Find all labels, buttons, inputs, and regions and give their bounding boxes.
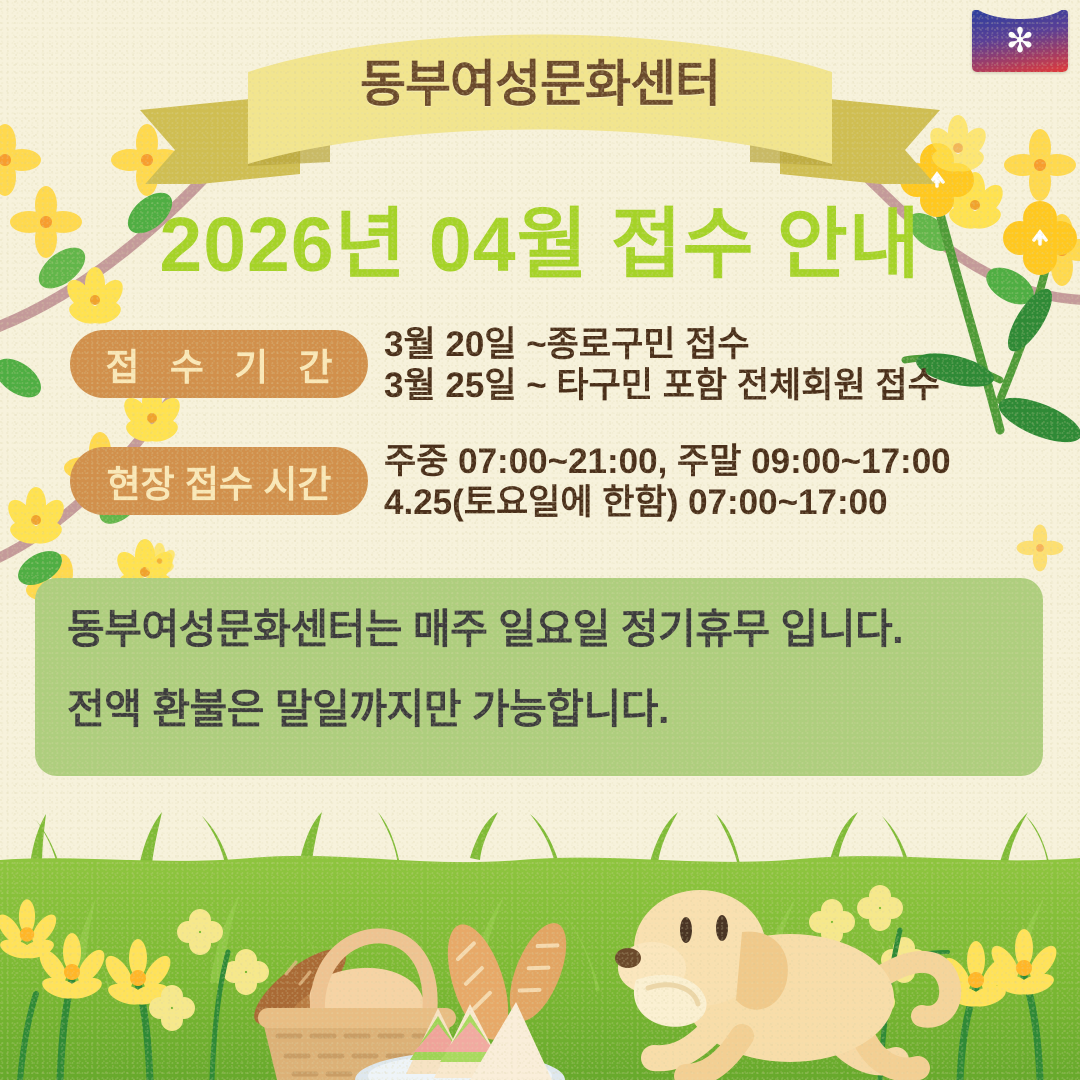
application-period-line1: 3월 20일 ~종로구민 접수	[384, 325, 750, 364]
application-period-line2: 3월 25일 ~ 타구민 포함 전체회원 접수	[384, 365, 1050, 406]
onsite-hours-line2: 4.25(토요일에 한함) 07:00~17:00	[384, 482, 1050, 523]
page-title: 2026년 04월 접수 안내	[0, 183, 1080, 294]
info-row-application-period: 접 수 기 간 3월 20일 ~종로구민 접수 3월 25일 ~ 타구민 포함 …	[70, 330, 1050, 407]
badge-onsite-hours: 현장 접수 시간	[70, 447, 368, 515]
info-section: 접 수 기 간 3월 20일 ~종로구민 접수 3월 25일 ~ 타구민 포함 …	[70, 330, 1050, 563]
notice-line-2: 전액 환불은 말일까지만 가능합니다.	[67, 684, 1013, 734]
info-row-onsite-hours: 현장 접수 시간 주중 07:00~21:00, 주말 09:00~17:00 …	[70, 447, 1050, 524]
poster-canvas: 동부여성문화센터 2026년 04월 접수 안내 ✻ 접 수 기 간 3월 20…	[0, 0, 1080, 1080]
application-period-text: 3월 20일 ~종로구민 접수 3월 25일 ~ 타구민 포함 전체회원 접수	[368, 324, 1050, 407]
onsite-hours-line1: 주중 07:00~21:00, 주말 09:00~17:00	[384, 442, 951, 481]
organization-logo-badge: ✻	[972, 10, 1068, 72]
flower-mark-icon: ✻	[1006, 24, 1035, 58]
notice-line-1: 동부여성문화센터는 매주 일요일 정기휴무 입니다.	[67, 604, 1013, 654]
organization-title: 동부여성문화센터	[0, 44, 1080, 116]
notice-box: 동부여성문화센터는 매주 일요일 정기휴무 입니다. 전액 환불은 말일까지만 …	[35, 578, 1043, 776]
onsite-hours-text: 주중 07:00~21:00, 주말 09:00~17:00 4.25(토요일에…	[368, 441, 1050, 524]
badge-application-period: 접 수 기 간	[70, 330, 368, 398]
bottom-illustration	[0, 812, 1080, 1080]
